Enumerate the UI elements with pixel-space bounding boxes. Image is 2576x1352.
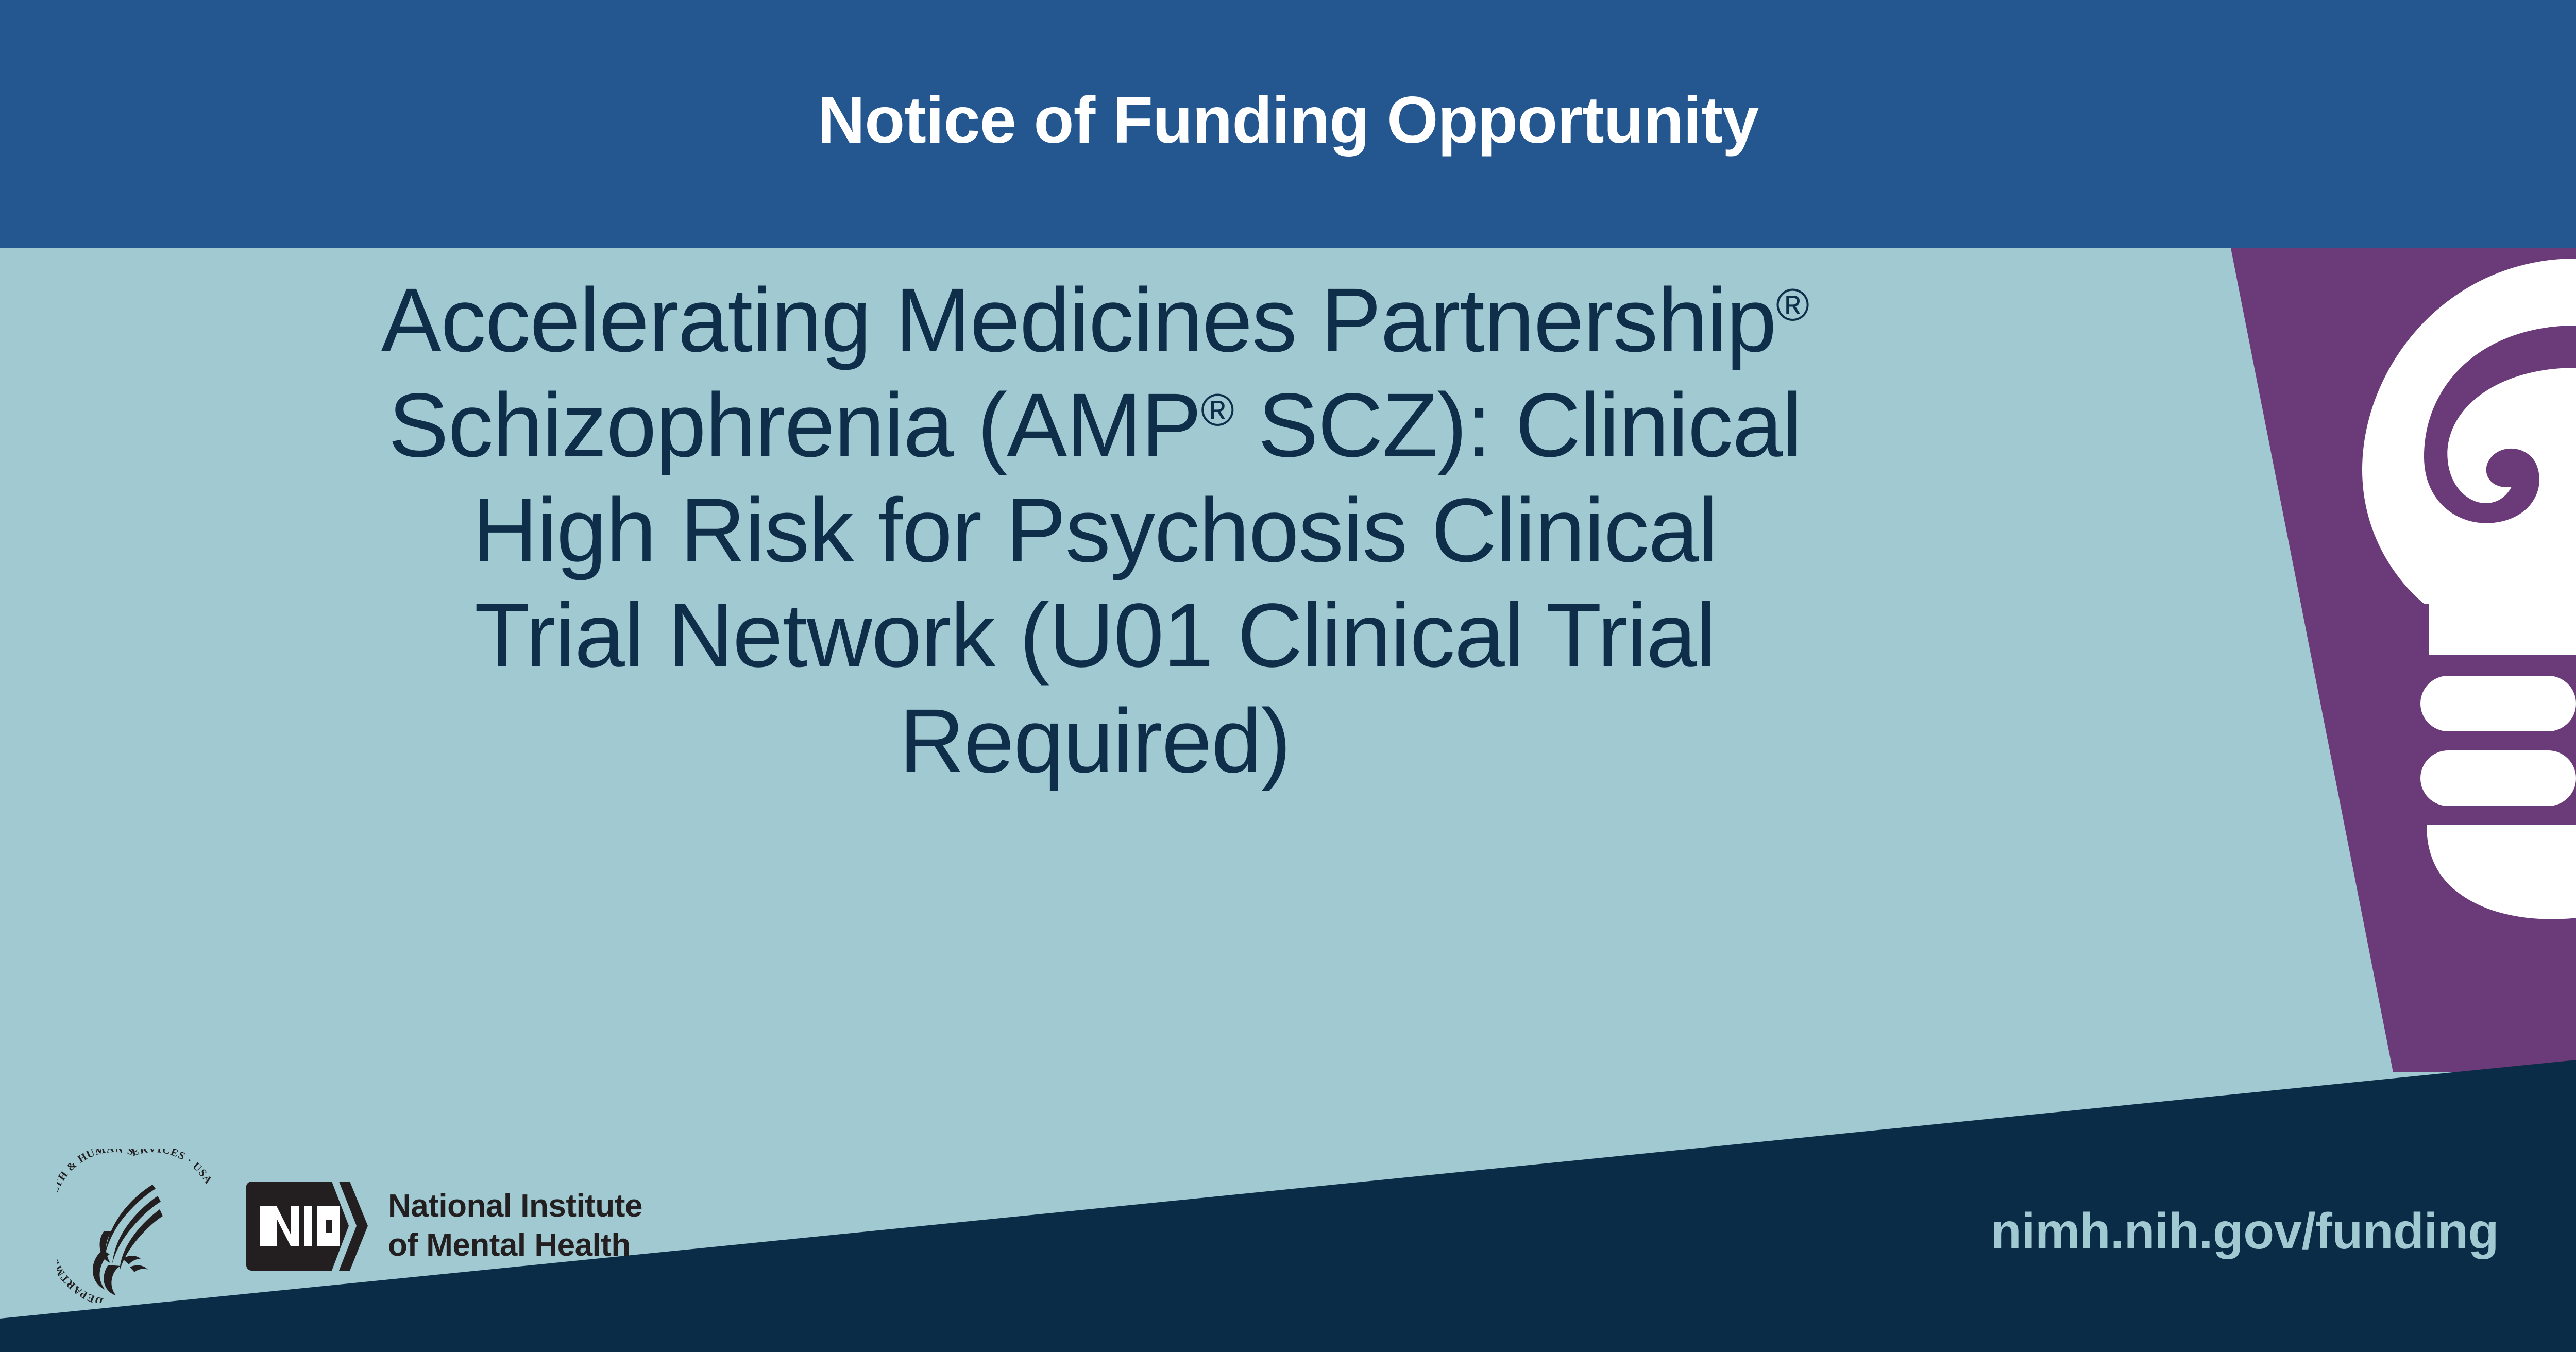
title-line-5: Required) — [0, 689, 2190, 794]
purple-diagonal-wedge — [2231, 248, 2576, 1072]
title-line-3: High Risk for Psychosis Clinical — [0, 478, 2190, 583]
nih-name: National Institute of Mental Health — [388, 1187, 642, 1264]
agency-logos: DEPARTMENT OF HEALTH & HUMAN SERVICES · … — [57, 1149, 642, 1303]
title-line-1-text: Accelerating Medicines Partnership — [381, 270, 1776, 371]
lightbulb-neck — [2429, 604, 2576, 655]
footer-url[interactable]: nimh.nih.gov/funding — [1991, 1202, 2499, 1260]
title-line-2-before: Schizophrenia (AMP — [388, 375, 1201, 476]
nih-name-line-2: of Mental Health — [388, 1226, 642, 1265]
svg-text:DEPARTMENT OF HEALTH & HUMAN S: DEPARTMENT OF HEALTH & HUMAN SERVICES · … — [57, 1149, 211, 1303]
hhs-seal-icon: DEPARTMENT OF HEALTH & HUMAN SERVICES · … — [57, 1149, 211, 1303]
lightbulb-graphic — [2215, 248, 2576, 1072]
title-line-1: Accelerating Medicines Partnership® — [0, 268, 2190, 373]
lightbulb-glass — [2362, 259, 2576, 604]
lightbulb-filament — [2424, 326, 2576, 523]
lightbulb-thread-2 — [2420, 750, 2576, 806]
header-band: Notice of Funding Opportunity — [0, 0, 2576, 248]
nofo-poster: Notice of Funding Opportunity Accelerati… — [0, 0, 2576, 1352]
registered-mark-icon: ® — [1201, 385, 1233, 436]
lightbulb-thread-1 — [2420, 676, 2576, 731]
nofo-title: Accelerating Medicines Partnership® Schi… — [0, 268, 2190, 794]
nih-logo: National Institute of Mental Health — [243, 1178, 642, 1274]
lightbulb-base-tip — [2427, 825, 2576, 919]
title-line-2: Schizophrenia (AMP® SCZ): Clinical — [0, 373, 2190, 478]
title-line-4: Trial Network (U01 Clinical Trial — [0, 583, 2190, 688]
nih-name-line-1: National Institute — [388, 1187, 642, 1226]
page-title: Notice of Funding Opportunity — [818, 88, 1759, 161]
registered-mark-icon: ® — [1776, 279, 1808, 330]
title-line-2-after: SCZ): Clinical — [1233, 375, 1801, 476]
nih-mark-icon — [243, 1178, 375, 1274]
